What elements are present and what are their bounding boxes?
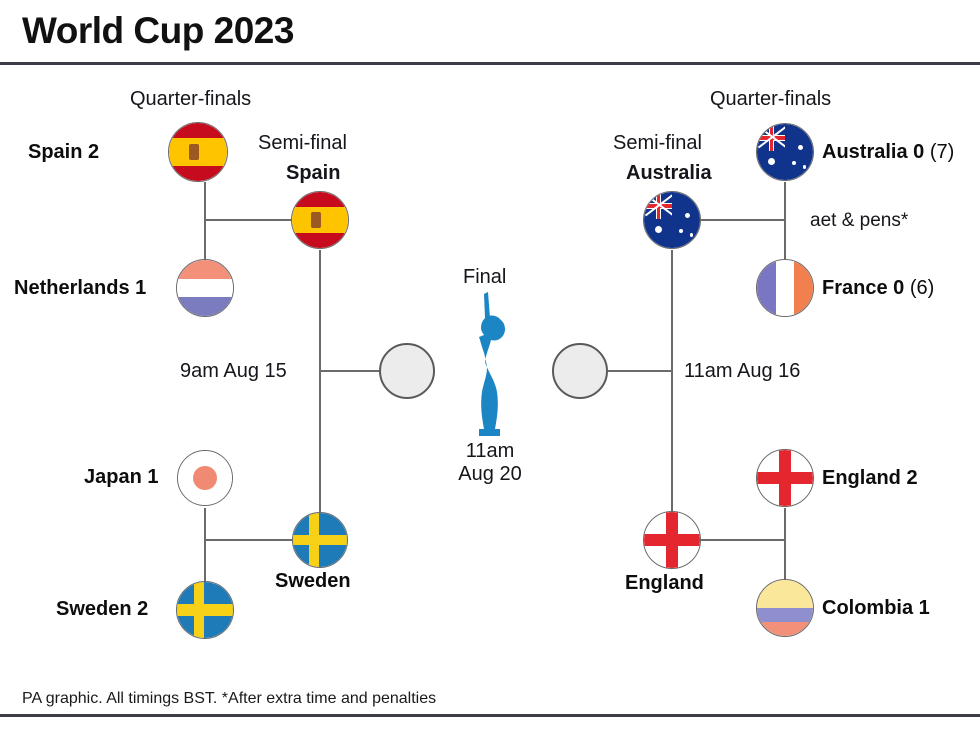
node-colombia-quarter-final[interactable] xyxy=(756,579,814,637)
time-semi-final-right: 11am Aug 16 xyxy=(684,360,800,383)
france-flag-icon xyxy=(757,260,813,316)
divider-bottom xyxy=(0,714,980,717)
connector-left-bottom-to-semi xyxy=(204,539,294,541)
final-slot-right[interactable] xyxy=(552,343,608,399)
label-australia-quarter-final: Australia 0 (7) xyxy=(822,141,954,164)
stage-label-quarter-finals-right: Quarter-finals xyxy=(710,88,831,111)
connector-left-semi-to-final xyxy=(319,370,380,372)
node-australia-semi-final[interactable] xyxy=(643,191,701,249)
label-england-quarter-final: England 2 xyxy=(822,467,918,490)
connector-left-top-to-semi xyxy=(204,219,294,221)
final-time-line2: Aug 20 xyxy=(432,463,548,486)
australia-flag-icon xyxy=(644,192,700,248)
time-semi-final-left: 9am Aug 15 xyxy=(180,360,287,383)
semi-final-winner-left: Spain xyxy=(286,162,340,185)
label-england-semi-final: England xyxy=(625,572,704,595)
label-france-quarter-final: France 0 (6) xyxy=(822,277,934,300)
australia-flag-icon xyxy=(757,124,813,180)
connector-right-semi-australia-down xyxy=(671,250,673,371)
connector-left-semi-spain-down xyxy=(319,250,321,371)
connector-right-top-to-semi xyxy=(700,219,785,221)
connector-right-bottom-to-semi xyxy=(700,539,785,541)
stage-label-final: Final xyxy=(463,266,506,289)
node-australia-quarter-final[interactable] xyxy=(756,123,814,181)
label-spain-quarter-final: Spain 2 xyxy=(28,141,99,164)
node-spain-semi-final[interactable] xyxy=(291,191,349,249)
sweden-flag-icon xyxy=(293,513,347,567)
divider-top xyxy=(0,62,980,65)
netherlands-flag-icon xyxy=(177,260,233,316)
connector-right-semi-england-up xyxy=(671,371,673,512)
label-netherlands-quarter-final: Netherlands 1 xyxy=(14,277,146,300)
semi-final-winner-right: Australia xyxy=(626,162,712,185)
label-sweden-semi-final: Sweden xyxy=(275,570,351,593)
node-sweden-quarter-final[interactable] xyxy=(176,581,234,639)
node-netherlands-quarter-final[interactable] xyxy=(176,259,234,317)
header: World Cup 2023 xyxy=(0,0,980,62)
final-time-line1: 11am xyxy=(432,440,548,463)
label-japan-quarter-final: Japan 1 xyxy=(84,466,158,489)
stage-label-semi-final-right: Semi-final xyxy=(613,132,702,155)
final-slot-left[interactable] xyxy=(379,343,435,399)
trophy-icon xyxy=(455,288,525,438)
spain-flag-icon xyxy=(169,123,227,181)
label-colombia-quarter-final: Colombia 1 xyxy=(822,597,930,620)
node-sweden-semi-final[interactable] xyxy=(292,512,348,568)
spain-flag-icon xyxy=(292,192,348,248)
england-flag-icon xyxy=(644,512,700,568)
node-spain-quarter-final[interactable] xyxy=(168,122,228,182)
label-sweden-quarter-final: Sweden 2 xyxy=(56,598,148,621)
colombia-flag-icon xyxy=(757,580,813,636)
final-time: 11am Aug 20 xyxy=(432,440,548,486)
page-title: World Cup 2023 xyxy=(22,10,294,52)
stage-label-semi-final-left: Semi-final xyxy=(258,132,347,155)
england-flag-icon xyxy=(757,450,813,506)
stage-label-quarter-finals-left: Quarter-finals xyxy=(130,88,251,111)
footnote: PA graphic. All timings BST. *After extr… xyxy=(22,690,436,708)
connector-left-semi-sweden-up xyxy=(319,371,321,512)
node-england-quarter-final[interactable] xyxy=(756,449,814,507)
connector-right-semi-to-final xyxy=(608,370,672,372)
infographic-root: World Cup 2023 PA graphic. All timings B… xyxy=(0,0,980,730)
node-japan-quarter-final[interactable] xyxy=(177,450,233,506)
note-aet-pens: aet & pens* xyxy=(810,210,908,232)
node-france-quarter-final[interactable] xyxy=(756,259,814,317)
node-england-semi-final[interactable] xyxy=(643,511,701,569)
japan-flag-icon xyxy=(178,451,232,505)
sweden-flag-icon xyxy=(177,582,233,638)
